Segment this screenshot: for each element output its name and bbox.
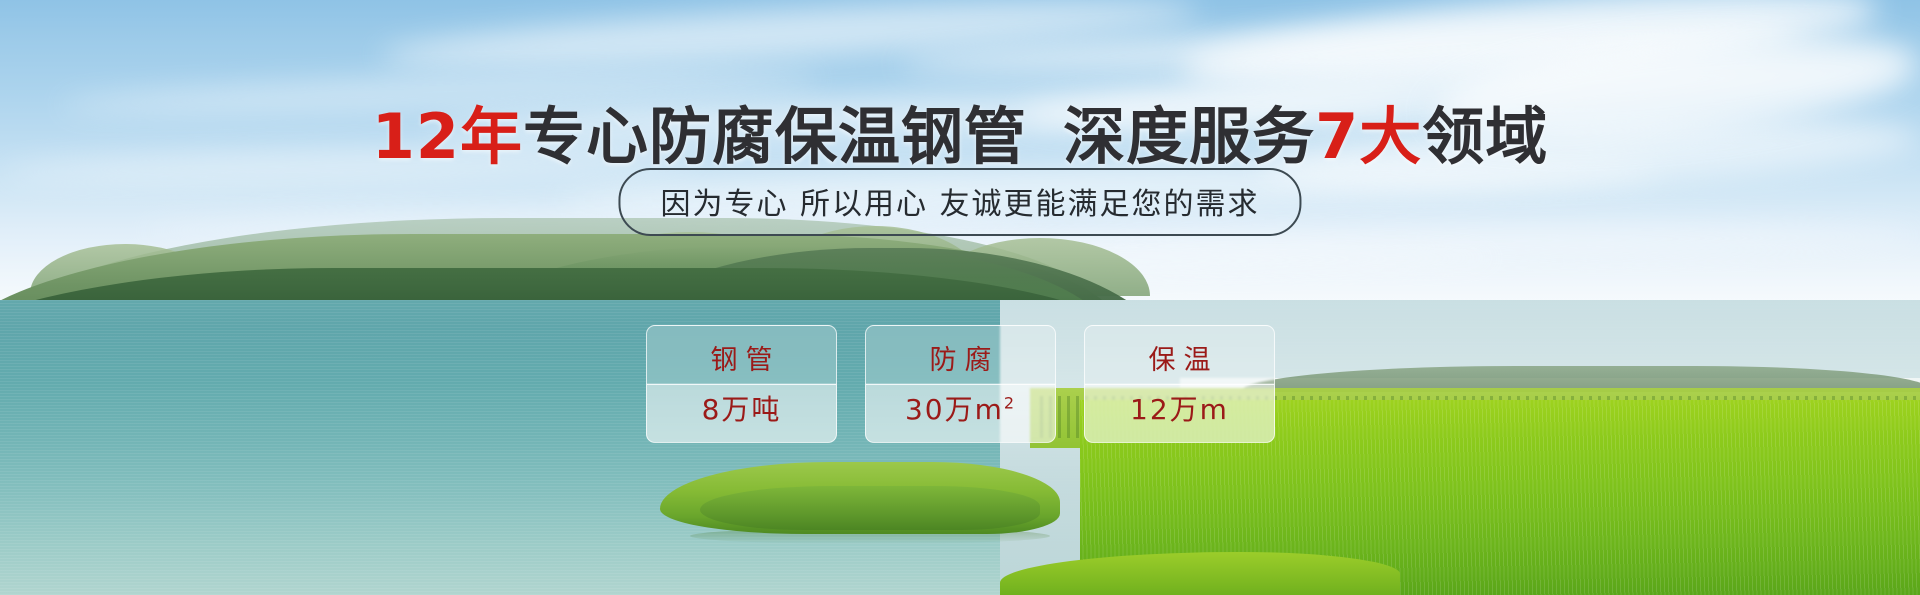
banner-subtitle: 因为专心 所以用心 友诚更能满足您的需求	[618, 168, 1301, 236]
hero-banner: 12年专心防腐保温钢管深度服务7大领域 因为专心 所以用心 友诚更能满足您的需求…	[0, 0, 1920, 595]
stat-card-value: 30万m2	[866, 388, 1055, 428]
stat-value-text: 30万m	[905, 393, 1004, 426]
headline-fields: 领域	[1422, 100, 1548, 173]
stat-card-anticorrosion[interactable]: 防腐 30万m2	[865, 325, 1056, 443]
stat-card-title: 防腐	[866, 338, 1055, 377]
stat-value-text: 8万吨	[702, 393, 782, 426]
stat-card-divider	[647, 384, 836, 385]
headline-years: 12年	[372, 100, 523, 173]
stat-value-superscript: 2	[1004, 394, 1016, 413]
stat-card-value: 8万吨	[647, 388, 836, 428]
banner-headline: 12年专心防腐保温钢管深度服务7大领域	[0, 86, 1920, 176]
stat-card-steel-pipe[interactable]: 钢管 8万吨	[646, 325, 837, 443]
stat-card-divider	[1085, 384, 1274, 385]
stat-value-text: 12万m	[1130, 393, 1229, 426]
stat-card-title: 钢管	[647, 338, 836, 377]
stat-card-group: 钢管 8万吨 防腐 30万m2 保温 12万m	[646, 325, 1276, 443]
headline-fields-count: 7大	[1315, 100, 1422, 173]
stat-card-insulation[interactable]: 保温 12万m	[1084, 325, 1275, 443]
headline-service: 深度服务	[1063, 100, 1315, 173]
stat-card-divider	[866, 384, 1055, 385]
grass-island-shadow	[700, 486, 1040, 530]
headline-main: 专心防腐保温钢管	[523, 100, 1027, 173]
stat-card-title: 保温	[1085, 338, 1274, 377]
stat-card-value: 12万m	[1085, 388, 1274, 428]
